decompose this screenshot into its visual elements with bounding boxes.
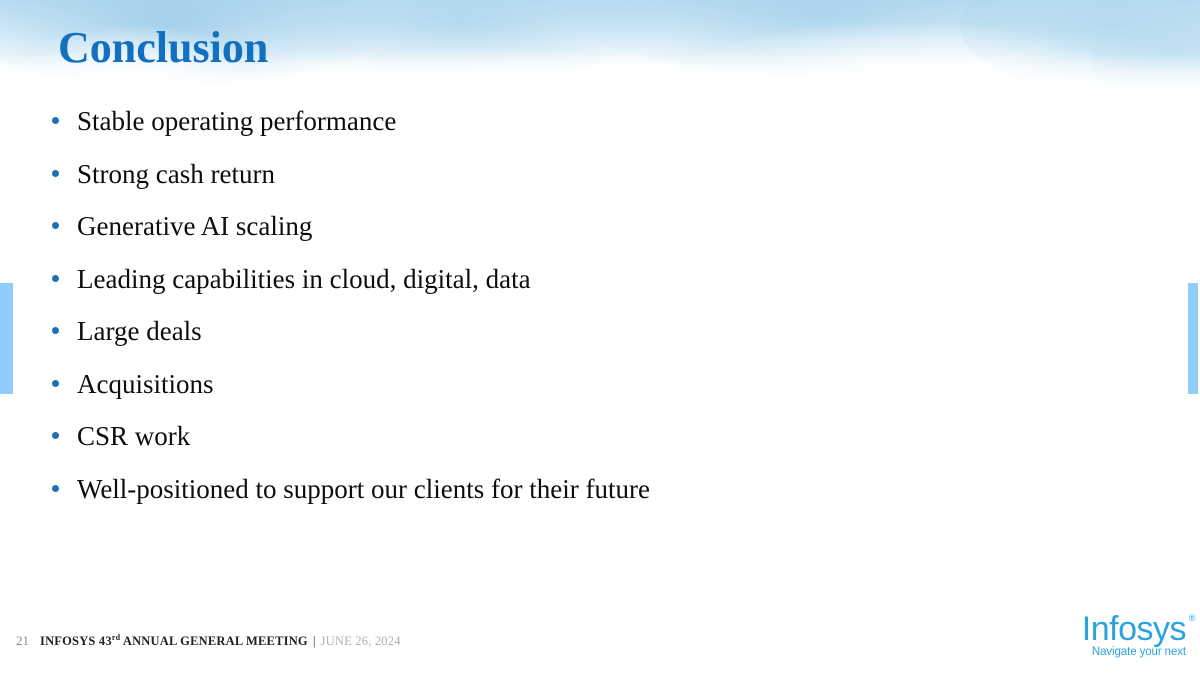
list-item: Stable operating performance [52,108,1132,161]
footer-date: JUNE 26, 2024 [321,634,401,649]
list-item-label: Stable operating performance [77,108,396,135]
footer-event-prefix: INFOSYS 43 [40,634,112,648]
list-item-label: Acquisitions [77,371,214,398]
accent-bar-right [1188,283,1198,394]
footer-event-name: INFOSYS 43rd ANNUAL GENERAL MEETING [40,633,308,649]
list-item: Acquisitions [52,371,1132,424]
page-title: Conclusion [58,24,268,72]
slide: Conclusion Stable operating performance … [0,0,1200,675]
infosys-logo: Infosys ® Navigate your next [1066,613,1186,658]
logo-wordmark-wrapper: Infosys ® [1082,613,1186,645]
list-item: Generative AI scaling [52,213,1132,266]
list-item: Strong cash return [52,161,1132,214]
footer-event-ordinal: rd [112,633,120,642]
bullet-dot-icon [52,327,59,334]
bullet-list: Stable operating performance Strong cash… [52,108,1132,528]
logo-tagline: Navigate your next [1066,646,1186,658]
list-item: Leading capabilities in cloud, digital, … [52,266,1132,319]
list-item-label: Well-positioned to support our clients f… [77,476,650,503]
page-number: 21 [16,633,29,649]
list-item-label: Leading capabilities in cloud, digital, … [77,266,531,293]
list-item: Well-positioned to support our clients f… [52,476,1132,529]
registered-trademark-icon: ® [1189,614,1195,623]
footer-separator: | [313,634,316,649]
list-item-label: Large deals [77,318,202,345]
footer-event-suffix: ANNUAL GENERAL MEETING [120,634,308,648]
wash-blob-5 [1090,10,1200,105]
bullet-dot-icon [52,222,59,229]
wash-blob-2 [250,0,670,80]
list-item-label: Generative AI scaling [77,213,312,240]
bullet-dot-icon [52,117,59,124]
bullet-dot-icon [52,380,59,387]
bullet-dot-icon [52,170,59,177]
bullet-dot-icon [52,432,59,439]
wash-blob-3 [560,0,1080,75]
list-item-label: Strong cash return [77,161,275,188]
slide-footer: 21 INFOSYS 43rd ANNUAL GENERAL MEETING |… [16,633,401,649]
logo-wordmark: Infosys [1082,610,1186,648]
list-item: Large deals [52,318,1132,371]
list-item-label: CSR work [77,423,190,450]
wash-blob-4 [960,0,1200,100]
list-item: CSR work [52,423,1132,476]
bullet-dot-icon [52,485,59,492]
accent-bar-left [0,283,13,394]
bullet-dot-icon [52,275,59,282]
